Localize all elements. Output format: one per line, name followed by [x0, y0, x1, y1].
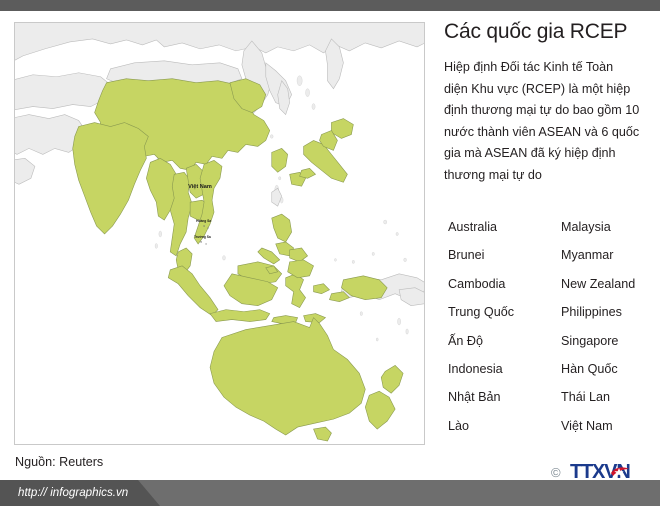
source-credit: Nguồn: Reuters	[15, 455, 103, 469]
country-column-left: Australia Brunei Cambodia Trung Quốc Ấn …	[448, 213, 561, 440]
list-item: Singapore	[561, 327, 658, 355]
map-label-paracel: Hoàng Sa	[196, 219, 211, 223]
map-label-spratly: Trường Sa	[194, 235, 211, 239]
list-item: Malaysia	[561, 213, 658, 241]
copyright-icon: ©	[551, 466, 561, 479]
list-item: Nhật Bản	[448, 383, 561, 411]
list-item: Brunei	[448, 241, 561, 269]
list-item: Philippines	[561, 298, 658, 326]
logo-star-swoosh-icon	[610, 464, 630, 480]
country-list: Australia Brunei Cambodia Trung Quốc Ấn …	[448, 213, 658, 440]
list-item: Australia	[448, 213, 561, 241]
list-item: Indonesia	[448, 355, 561, 383]
list-item: Thái Lan	[561, 383, 658, 411]
infographic-root: Việt Nam Hoàng Sa Trường Sa Các quốc gia…	[0, 0, 660, 506]
site-url: http:// infographics.vn	[18, 486, 128, 500]
page-description: Hiệp định Đối tác Kinh tế Toàn diện Khu …	[444, 57, 640, 187]
list-item: Ấn Độ	[448, 327, 561, 355]
list-item: Trung Quốc	[448, 298, 561, 326]
top-bar	[0, 0, 660, 11]
list-item: Cambodia	[448, 270, 561, 298]
page-title: Các quốc gia RCEP	[444, 20, 650, 44]
rcep-map: Việt Nam Hoàng Sa Trường Sa	[15, 23, 424, 444]
list-item: New Zealand	[561, 270, 658, 298]
text-column: Các quốc gia RCEP Hiệp định Đối tác Kinh…	[444, 20, 650, 187]
map-label-vietnam: Việt Nam	[188, 184, 212, 190]
list-item: Hàn Quốc	[561, 355, 658, 383]
list-item: Việt Nam	[561, 412, 658, 440]
country-column-right: Malaysia Myanmar New Zealand Philippines…	[561, 213, 658, 440]
list-item: Lào	[448, 412, 561, 440]
bottom-bar: http:// infographics.vn	[0, 480, 660, 506]
list-item: Myanmar	[561, 241, 658, 269]
map-panel: Việt Nam Hoàng Sa Trường Sa	[14, 22, 425, 445]
